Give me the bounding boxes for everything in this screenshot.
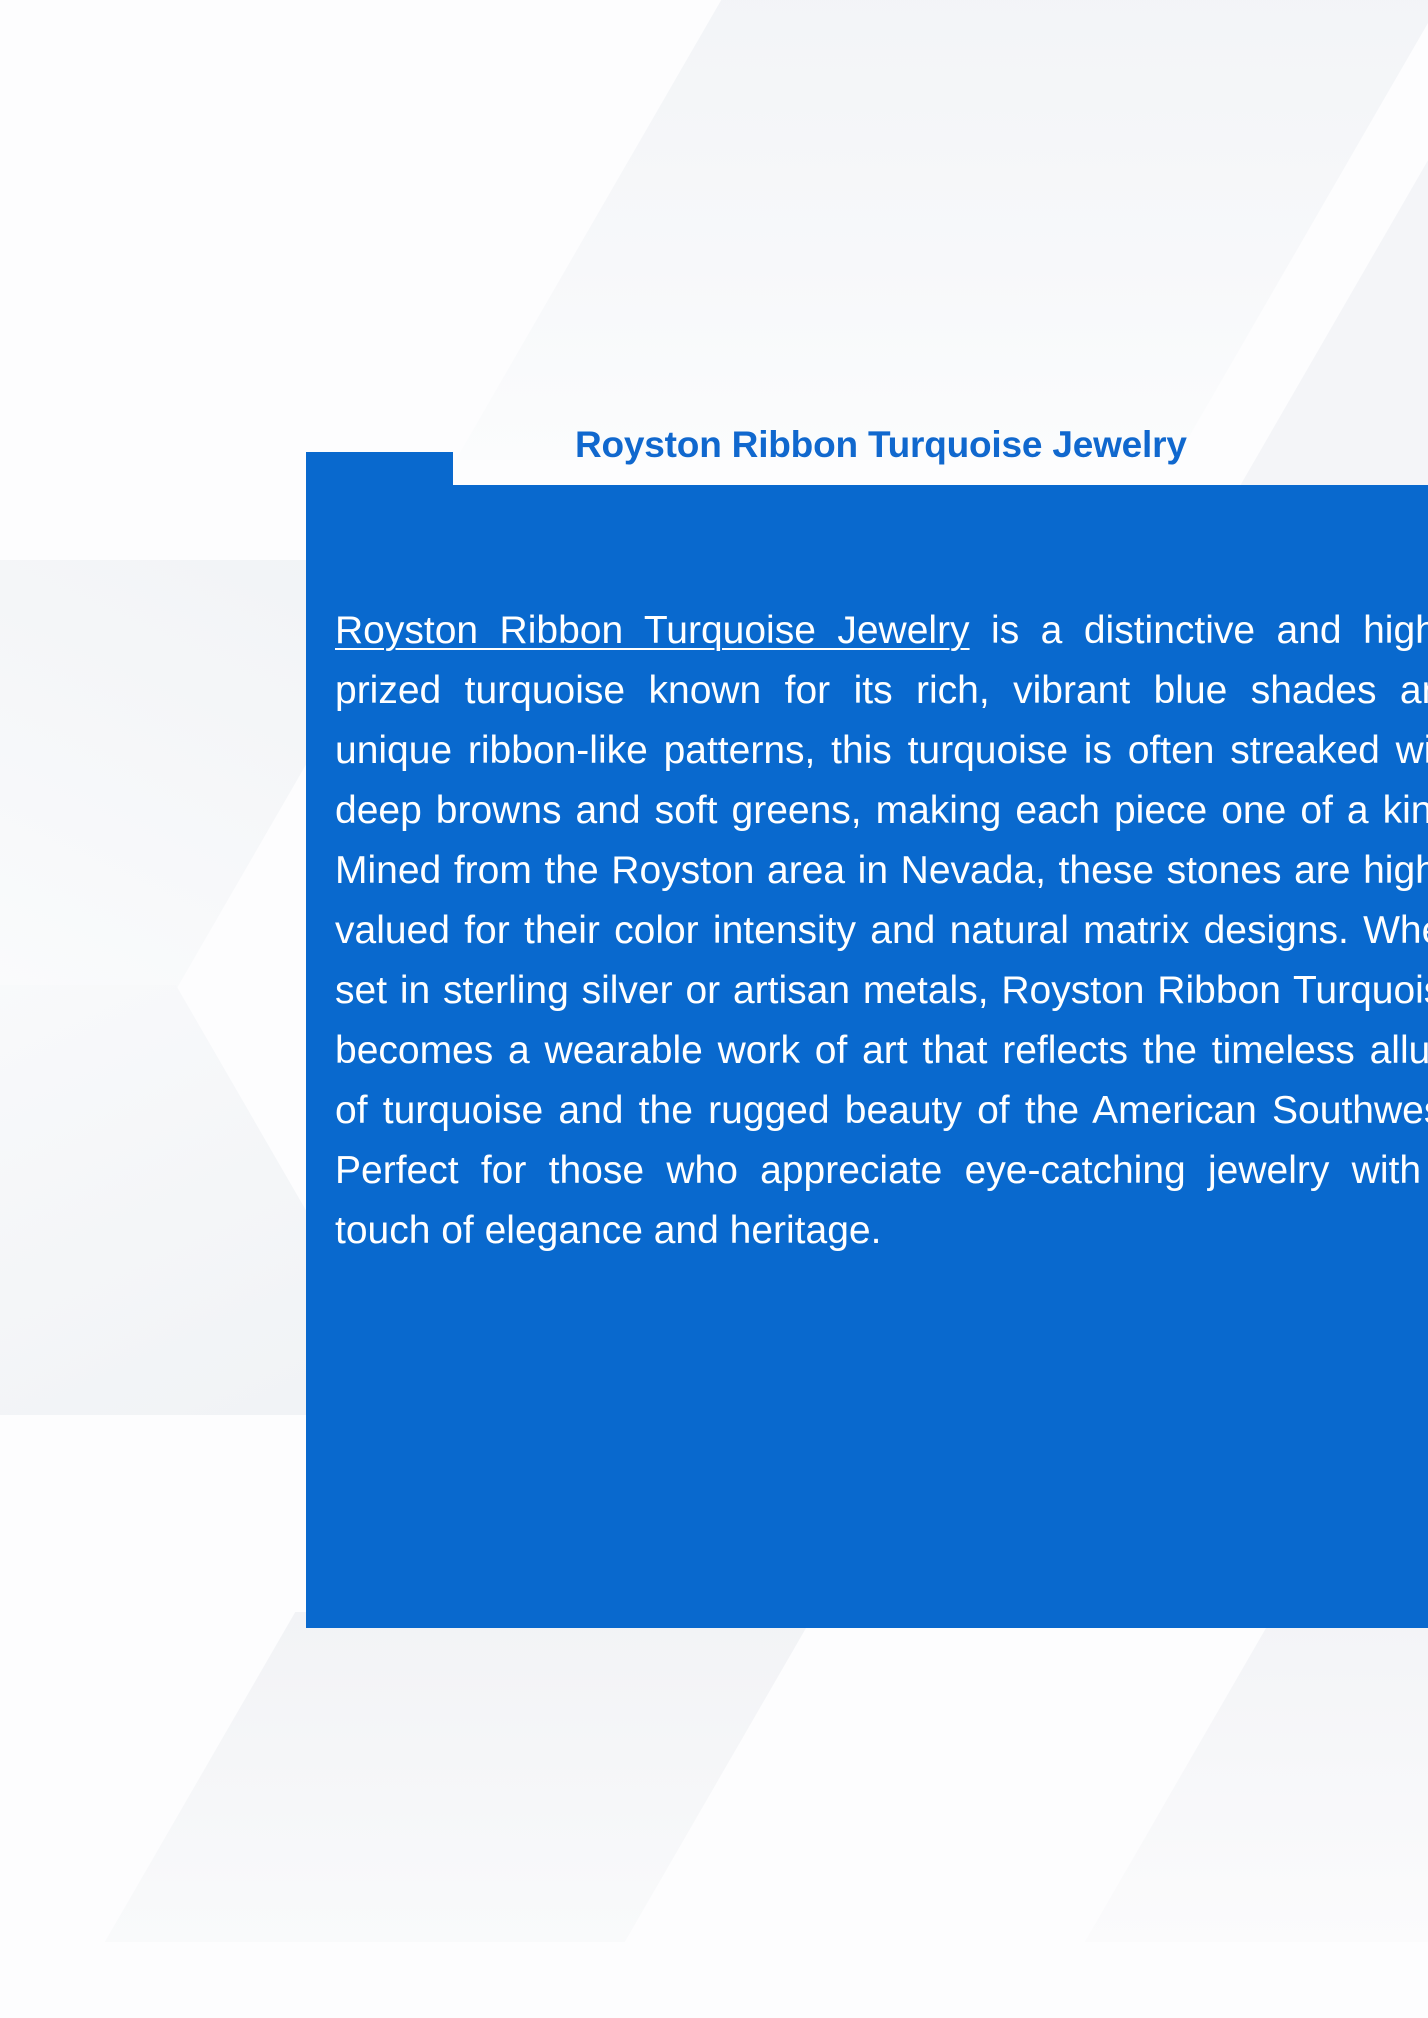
watermark-shape-top-right bbox=[456, 0, 1428, 460]
watermark-shape-bottom-right bbox=[1085, 1612, 1428, 1942]
card-body-paragraph: Royston Ribbon Turquoise Jewelry is a di… bbox=[335, 601, 1428, 1261]
page-root: Royston Ribbon Turquoise Jewelry Royston… bbox=[0, 0, 1428, 2018]
royston-ribbon-turquoise-jewelry-link[interactable]: Royston Ribbon Turquoise Jewelry bbox=[335, 609, 970, 652]
content-card: Royston Ribbon Turquoise Jewelry is a di… bbox=[306, 452, 1428, 1628]
watermark-shape-right-edge bbox=[1209, 120, 1428, 540]
watermark-shape-bottom-left bbox=[105, 1612, 816, 1942]
page-title: Royston Ribbon Turquoise Jewelry bbox=[575, 423, 1187, 467]
card-body-text: is a distinctive and highly prized turqu… bbox=[335, 609, 1428, 1252]
